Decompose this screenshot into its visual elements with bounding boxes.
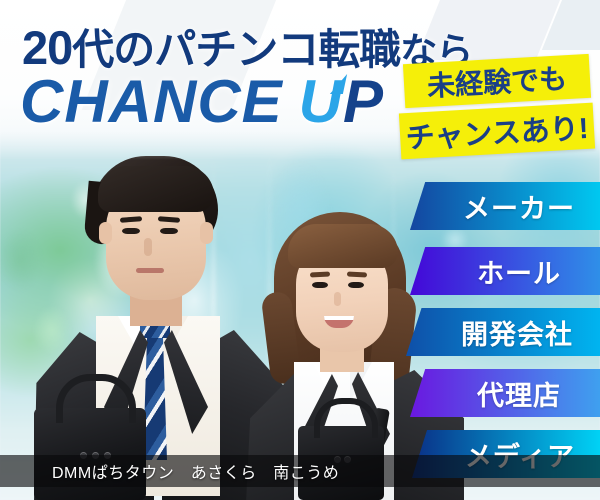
headline-number: 20: [22, 21, 72, 74]
category-label-hall: ホール: [477, 252, 561, 291]
man-eye-left: [122, 228, 140, 234]
logo-chance-up: CHANCEUP: [20, 72, 384, 132]
man-ear-right: [200, 222, 213, 244]
man-ear-left: [99, 222, 112, 244]
man-mouth: [136, 268, 164, 273]
credit-bar: DMMぱちタウン あさくら 南こうめ: [0, 455, 600, 487]
woman-eyebrow-left: [310, 271, 330, 277]
badge-chance-available-label: チャンスあり!: [405, 105, 590, 157]
category-label-agency: 代理店: [477, 374, 561, 413]
woman-eye-left: [312, 282, 328, 288]
woman-nose: [334, 292, 341, 306]
category-button-hall[interactable]: ホール: [410, 247, 600, 295]
category-button-maker[interactable]: メーカー: [410, 182, 600, 230]
logo-letter-u: U: [299, 72, 343, 132]
man-eye-right: [160, 228, 178, 234]
man-fringe: [98, 166, 214, 212]
badge-no-experience-label: 未経験でも: [426, 57, 568, 105]
woman-eye-right: [348, 282, 364, 288]
category-label-developer: 開発会社: [461, 313, 573, 352]
credit-text: DMMぱちタウン あさくら 南こうめ: [0, 459, 339, 483]
logo-word-chance: CHANCE: [20, 68, 283, 135]
headline-main: 代のパチンコ転職: [72, 26, 400, 73]
man-nose: [144, 238, 152, 256]
category-label-maker: メーカー: [463, 187, 575, 226]
woman-eyebrow-right: [347, 271, 367, 277]
logo-letter-p: P: [343, 68, 384, 135]
category-button-developer[interactable]: 開発会社: [406, 308, 600, 356]
woman-fringe: [288, 224, 398, 268]
category-button-agency[interactable]: 代理店: [410, 369, 600, 417]
recruitment-banner[interactable]: 20代のパチンコ転職なら CHANCEUP 未経験でも チャンスあり! メーカー…: [0, 0, 600, 500]
